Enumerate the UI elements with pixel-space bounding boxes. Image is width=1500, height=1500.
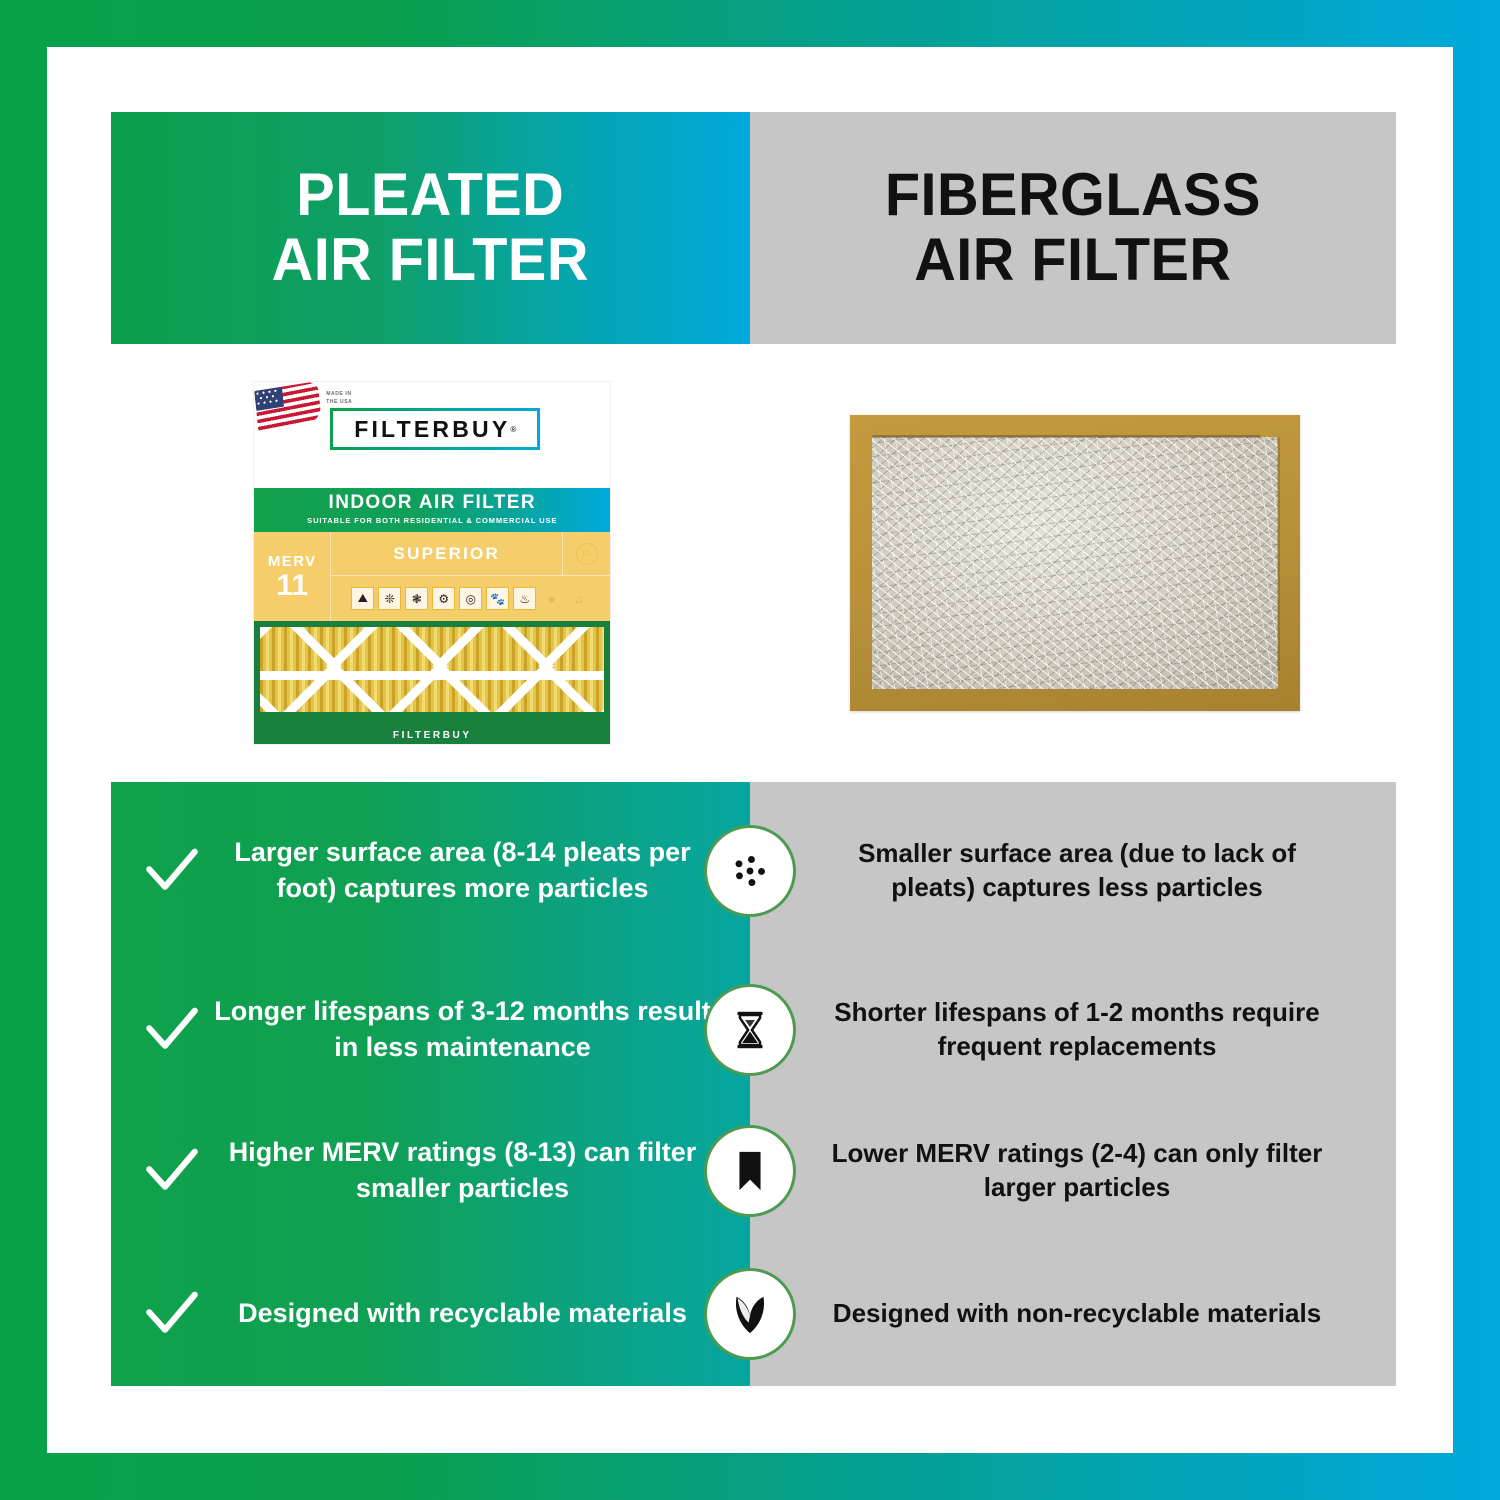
- leaf-icon: [704, 1268, 796, 1360]
- tier-label: SUPERIOR: [331, 544, 562, 564]
- frame-edge-right: [1277, 437, 1280, 671]
- ul-ring: UL: [576, 543, 598, 565]
- particles-icon: [704, 825, 796, 917]
- made-in-usa-label: MADE IN THE USA: [326, 391, 352, 406]
- comparison-row: Designed with recyclable materials Desig…: [111, 1241, 1396, 1386]
- row-left-cell: Larger surface area (8-14 pleats per foo…: [111, 782, 750, 959]
- ul-certification-icon: UL: [562, 532, 610, 575]
- check-icon: [135, 1286, 209, 1342]
- check-icon: [135, 843, 209, 899]
- virus-icon: ◎: [459, 587, 482, 610]
- mold-icon: ⚙: [432, 587, 455, 610]
- row-left-text: Designed with recyclable materials: [209, 1296, 716, 1331]
- row-right-text: Lower MERV ratings (2-4) can only filter…: [814, 1137, 1340, 1205]
- lattice-diamond: [326, 627, 448, 712]
- merv-badge: MERV 11: [254, 532, 331, 621]
- check-icon: [135, 1143, 209, 1199]
- fiberglass-mesh: [872, 437, 1278, 689]
- row-right-text: Smaller surface area (due to lack of ple…: [814, 837, 1340, 905]
- row-right-cell: Designed with non-recyclable materials: [750, 1241, 1396, 1386]
- header-fiberglass: FIBERGLASS AIR FILTER: [750, 112, 1396, 344]
- product-images-row: MADE IN THE USA FILTERBUY® INDOOR AIR FI…: [111, 344, 1396, 782]
- header-fiberglass-title: FIBERGLASS AIR FILTER: [885, 163, 1261, 293]
- tobacco-icon: ●: [540, 587, 563, 610]
- package-spec-right: SUPERIOR UL ⛰ ❊ ❃ ⚙ ◎ 🐾 ♨: [331, 532, 610, 621]
- comparison-row: Longer lifespans of 3-12 months result i…: [111, 959, 1396, 1100]
- support-lattice: [260, 627, 604, 712]
- package-footer-brand: FILTERBUY: [254, 730, 610, 741]
- package-top-band: MADE IN THE USA FILTERBUY®: [254, 382, 610, 488]
- frame-edge-top: [872, 435, 1260, 438]
- fiberglass-filter-art: [850, 415, 1300, 711]
- banner-subline: SUITABLE FOR BOTH RESIDENTIAL & COMMERCI…: [254, 516, 610, 525]
- ribbon-icon: [704, 1125, 796, 1217]
- row-left-text: Higher MERV ratings (8-13) can filter sm…: [209, 1135, 716, 1205]
- pleated-media-window: FILTERBUY: [254, 621, 610, 744]
- brand-name: FILTERBUY: [354, 416, 510, 443]
- fiberglass-filter-image-cell: [754, 344, 1397, 782]
- comparison-row: Higher MERV ratings (8-13) can filter sm…: [111, 1100, 1396, 1241]
- usa-flag-icon: [255, 382, 322, 431]
- header-pleated: PLEATED AIR FILTER: [111, 112, 750, 344]
- filterbuy-package-art: MADE IN THE USA FILTERBUY® INDOOR AIR FI…: [254, 382, 610, 744]
- row-right-cell: Lower MERV ratings (2-4) can only filter…: [750, 1100, 1396, 1241]
- comparison-table: Larger surface area (8-14 pleats per foo…: [111, 782, 1396, 1386]
- header-row: PLEATED AIR FILTER FIBERGLASS AIR FILTER: [111, 112, 1396, 344]
- row-right-cell: Shorter lifespans of 1-2 months require …: [750, 959, 1396, 1100]
- merv-value: 11: [276, 571, 308, 601]
- row-left-cell: Higher MERV ratings (8-13) can filter sm…: [111, 1100, 750, 1241]
- hourglass-icon: [704, 984, 796, 1076]
- lattice-diamond: [538, 627, 604, 712]
- package-banner: INDOOR AIR FILTER SUITABLE FOR BOTH RESI…: [254, 488, 610, 532]
- merv-label: MERV: [268, 553, 317, 570]
- feature-icon-strip: ⛰ ❊ ❃ ⚙ ◎ 🐾 ♨ ● ♫: [331, 576, 610, 621]
- lattice-diamond: [432, 627, 554, 712]
- pleat-texture: [260, 627, 604, 712]
- comparison-row: Larger surface area (8-14 pleats per foo…: [111, 782, 1396, 959]
- banner-headline: INDOOR AIR FILTER: [254, 492, 610, 514]
- pollen-icon: ❃: [405, 587, 428, 610]
- row-left-cell: Longer lifespans of 3-12 months result i…: [111, 959, 750, 1100]
- dust-icon: ⛰: [351, 587, 374, 610]
- row-left-text: Larger surface area (8-14 pleats per foo…: [209, 835, 716, 905]
- odor-icon: ♫: [567, 587, 590, 610]
- row-left-text: Longer lifespans of 3-12 months result i…: [209, 994, 716, 1064]
- row-right-text: Shorter lifespans of 1-2 months require …: [814, 996, 1340, 1064]
- brand-logo-box: FILTERBUY®: [330, 408, 540, 450]
- row-right-cell: Smaller surface area (due to lack of ple…: [750, 782, 1396, 959]
- check-icon: [135, 1002, 209, 1058]
- trademark-symbol: ®: [510, 425, 516, 434]
- row-right-text: Designed with non-recyclable materials: [814, 1297, 1340, 1331]
- header-pleated-title: PLEATED AIR FILTER: [272, 163, 589, 293]
- tier-row: SUPERIOR UL: [331, 532, 610, 576]
- bacteria-icon: ❊: [378, 587, 401, 610]
- package-spec-band: MERV 11 SUPERIOR UL ⛰ ❊ ❃: [254, 532, 610, 621]
- pet-dander-icon: 🐾: [486, 587, 509, 610]
- pleated-filter-image-cell: MADE IN THE USA FILTERBUY® INDOOR AIR FI…: [111, 344, 754, 782]
- row-left-cell: Designed with recyclable materials: [111, 1241, 750, 1386]
- white-canvas: PLEATED AIR FILTER FIBERGLASS AIR FILTER…: [47, 47, 1453, 1453]
- gradient-frame: PLEATED AIR FILTER FIBERGLASS AIR FILTER…: [0, 0, 1500, 1500]
- smoke-icon: ♨: [513, 587, 536, 610]
